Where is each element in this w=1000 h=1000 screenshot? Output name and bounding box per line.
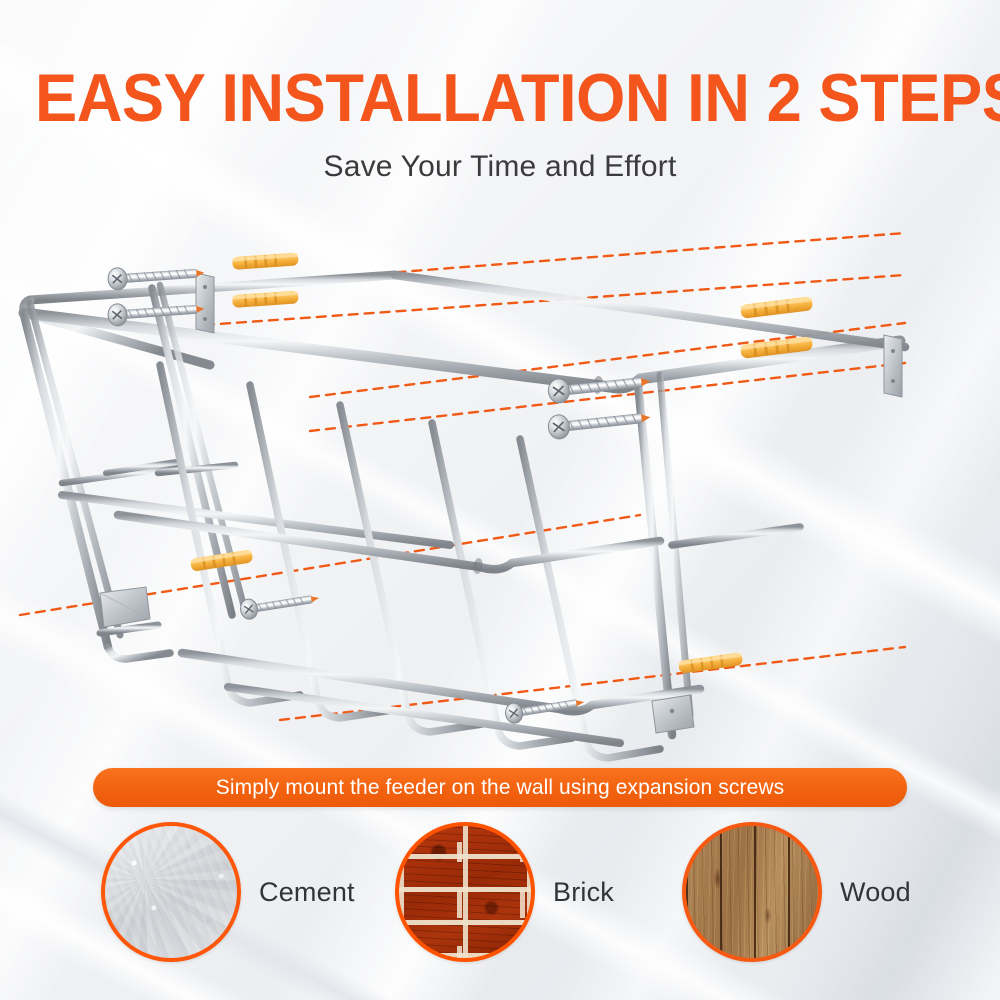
material-label-cement: Cement xyxy=(259,877,355,908)
material-item-brick: Brick xyxy=(395,822,614,962)
headline: EASY INSTALLATION IN 2 STEPS xyxy=(35,62,965,134)
product-illustration xyxy=(0,215,1000,775)
material-item-wood: Wood xyxy=(682,822,911,962)
brick-texture-swatch xyxy=(395,822,535,962)
supported-materials-row: Cement Brick Wood xyxy=(0,822,1000,982)
expansion-anchor xyxy=(190,252,813,673)
material-label-wood: Wood xyxy=(840,877,911,908)
material-label-brick: Brick xyxy=(553,877,614,908)
subtitle: Save Your Time and Effort xyxy=(0,150,1000,184)
hay-feeder-diagram xyxy=(0,215,1000,775)
wood-texture-swatch xyxy=(682,822,822,962)
infographic-canvas: EASY INSTALLATION IN 2 STEPS Save Your T… xyxy=(0,0,1000,1000)
cement-texture-swatch xyxy=(101,822,241,962)
instruction-banner: Simply mount the feeder on the wall usin… xyxy=(93,768,907,807)
material-item-cement: Cement xyxy=(101,822,355,962)
instruction-banner-text: Simply mount the feeder on the wall usin… xyxy=(216,776,784,800)
